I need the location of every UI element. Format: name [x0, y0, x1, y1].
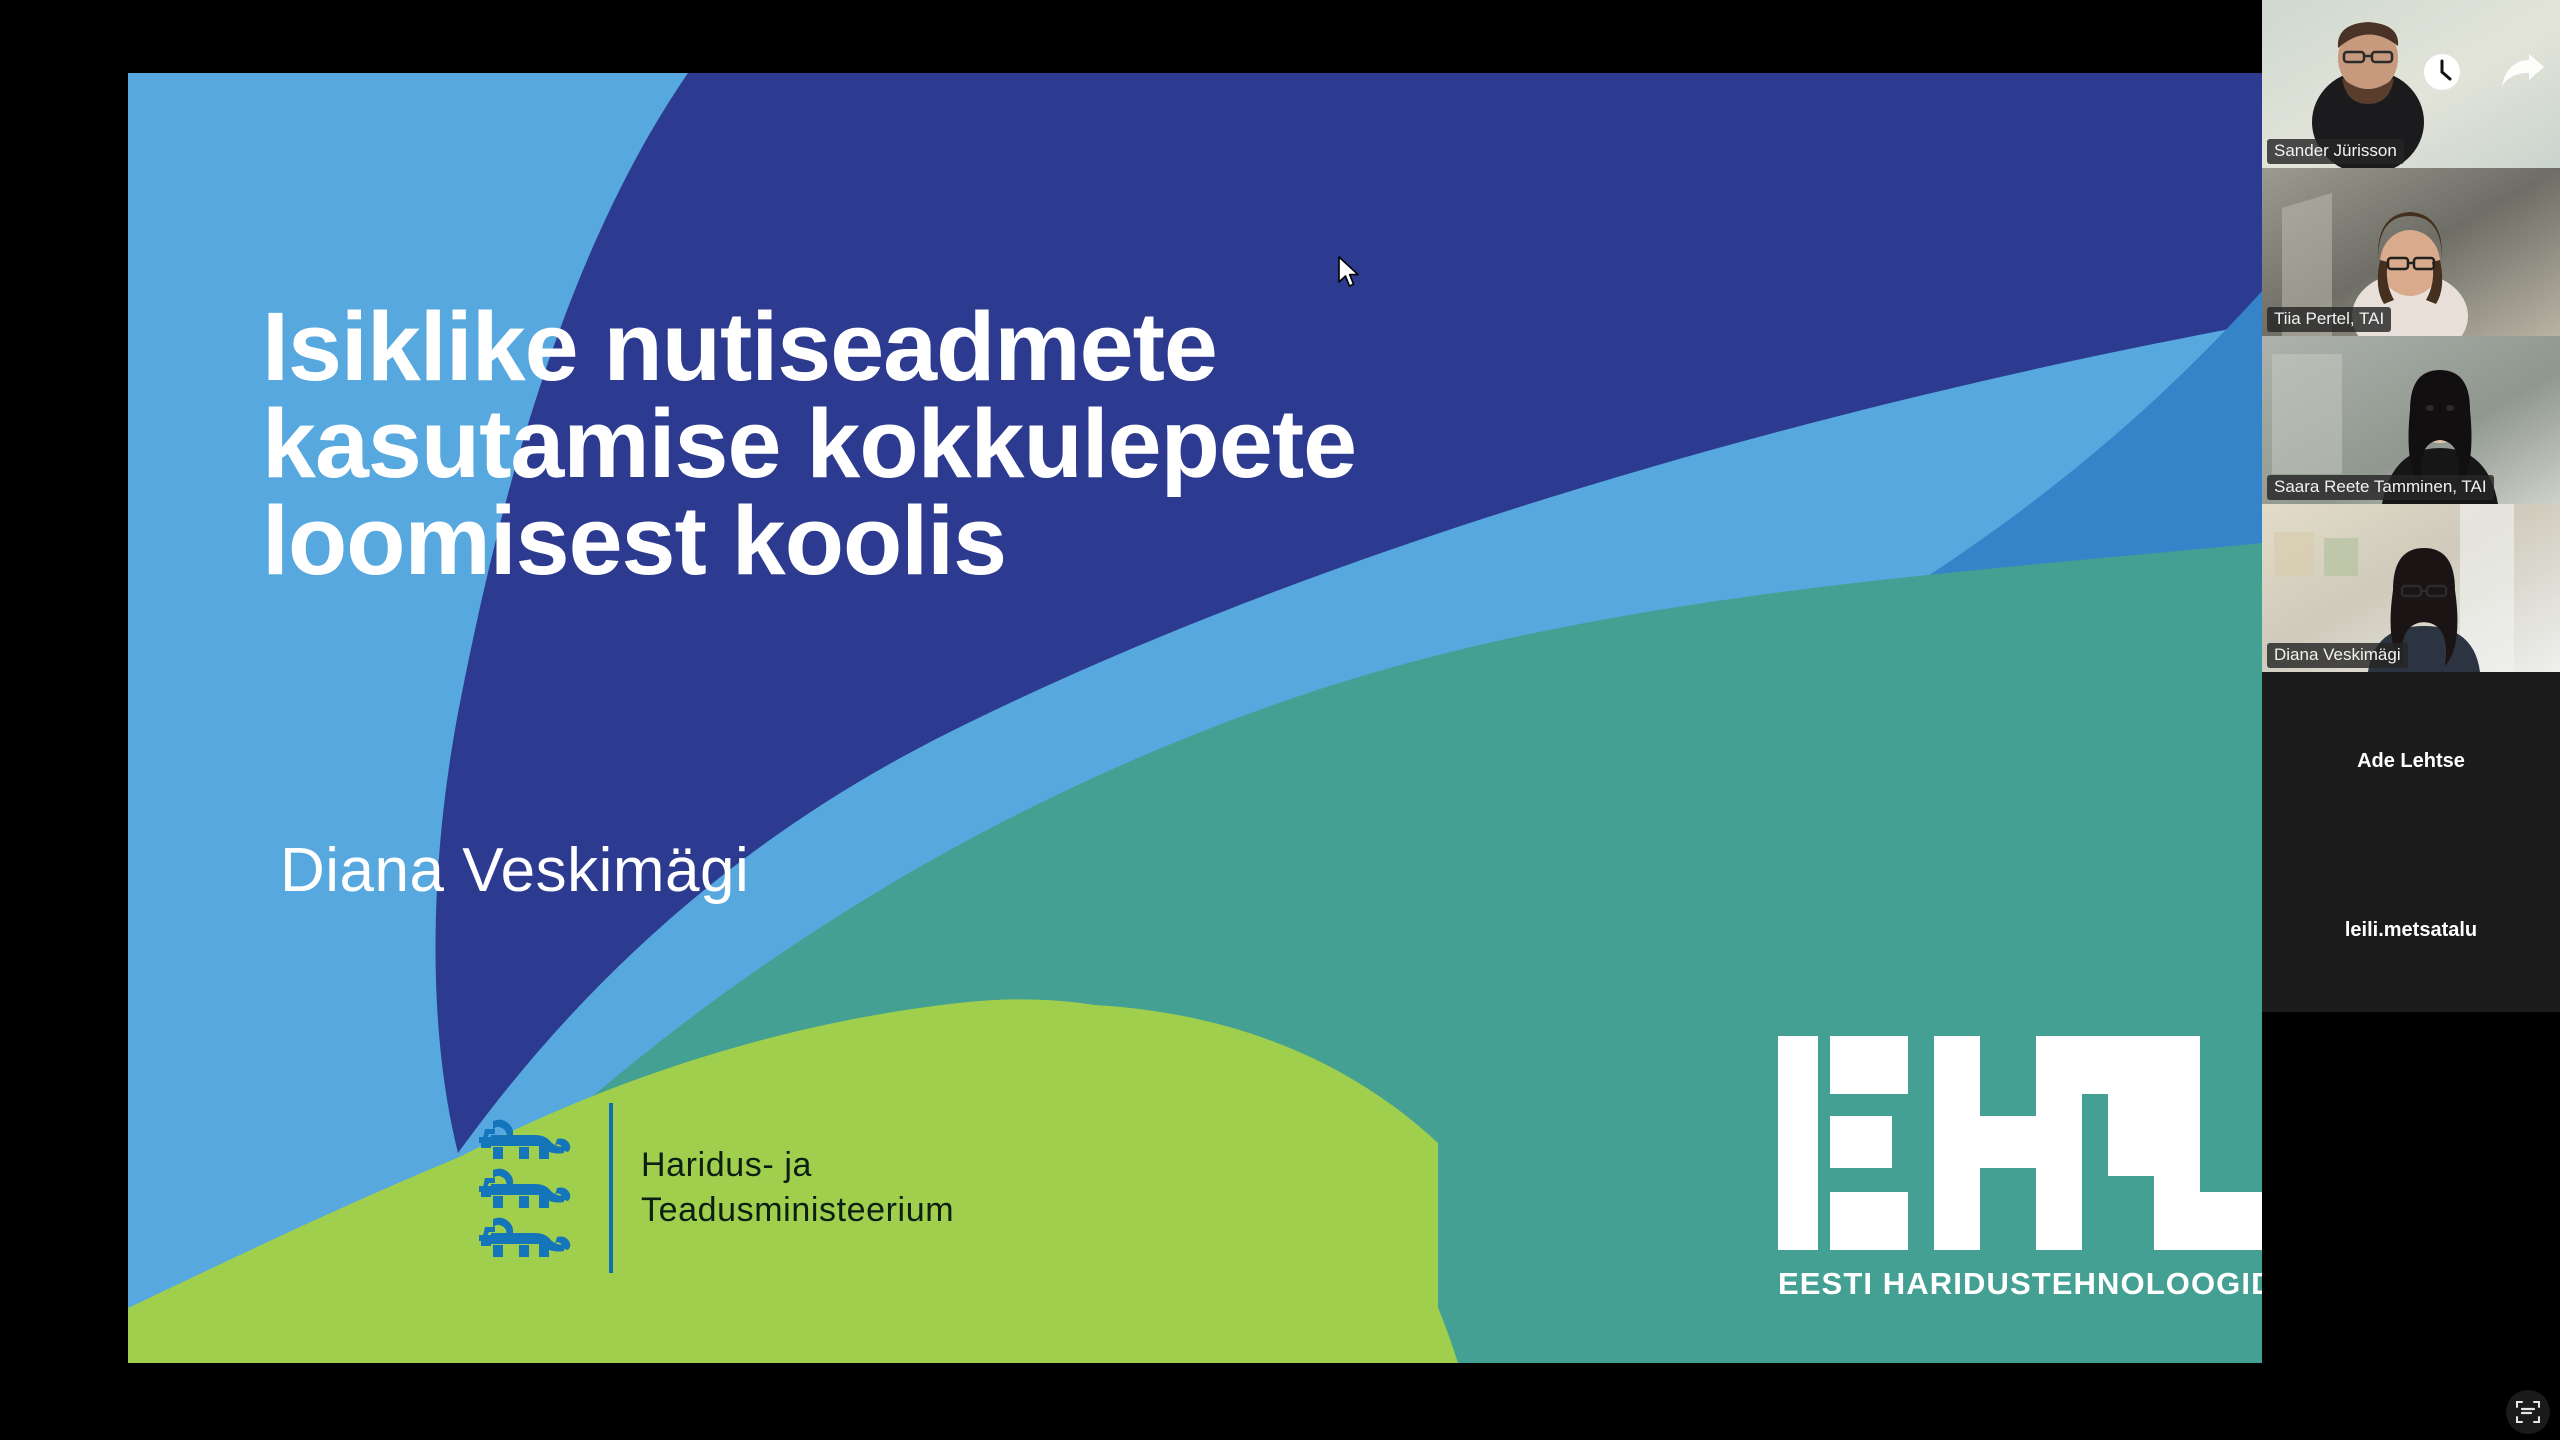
slide-title: Isiklike nutiseadmete kasutamise kokkule… [262, 298, 2062, 589]
ehtl-wordmark-icon [1778, 1028, 2262, 1258]
presentation-slide[interactable]: Isiklike nutiseadmete kasutamise kokkule… [128, 73, 2262, 1363]
logo-divider [609, 1103, 613, 1273]
ehtl-logo: EESTI HARIDUSTEHNOLOOGIDE LIIT [1778, 1028, 2262, 1302]
participant-video-panel[interactable]: Sander Jürisson Tiia [2262, 0, 2560, 1012]
scan-button[interactable] [2506, 1390, 2550, 1434]
ministry-logo-text: Haridus- ja Teadusministeerium [641, 1143, 954, 1233]
share-arrow-icon[interactable] [2500, 53, 2546, 91]
video-tile-3[interactable]: Diana Veskimägi [2262, 504, 2560, 672]
tile-name-label-0: Sander Jürisson [2267, 139, 2404, 164]
audio-participant-0[interactable]: Ade Lehtse [2262, 750, 2560, 773]
audio-only-participant-list[interactable]: Ade Lehtse leili.metsatalu [2262, 672, 2560, 1012]
ministry-line-1: Haridus- ja [641, 1143, 954, 1188]
estonian-coat-of-arms-icon [471, 1113, 581, 1263]
video-tile-2[interactable]: Saara Reete Tamminen, TAI [2262, 336, 2560, 504]
audio-participant-1[interactable]: leili.metsatalu [2262, 919, 2560, 942]
screen: Isiklike nutiseadmete kasutamise kokkule… [0, 0, 2560, 1440]
video-tile-1[interactable]: Tiia Pertel, TAI [2262, 168, 2560, 336]
tile-name-label-1: Tiia Pertel, TAI [2267, 307, 2391, 332]
ministry-logo: Haridus- ja Teadusministeerium [471, 1103, 954, 1273]
ministry-line-2: Teadusministeerium [641, 1188, 954, 1233]
scan-icon [2515, 1399, 2541, 1425]
slide-subtitle-author: Diana Veskimägi [280, 835, 749, 906]
ehtl-caption: EESTI HARIDUSTEHNOLOOGIDE LIIT [1778, 1266, 2262, 1302]
clock-icon[interactable] [2422, 52, 2462, 92]
tile-name-label-2: Saara Reete Tamminen, TAI [2267, 475, 2494, 500]
tile-name-label-3: Diana Veskimägi [2267, 643, 2408, 668]
video-tile-0[interactable]: Sander Jürisson [2262, 0, 2560, 168]
tile-overlay-icons-0[interactable] [2422, 52, 2546, 92]
